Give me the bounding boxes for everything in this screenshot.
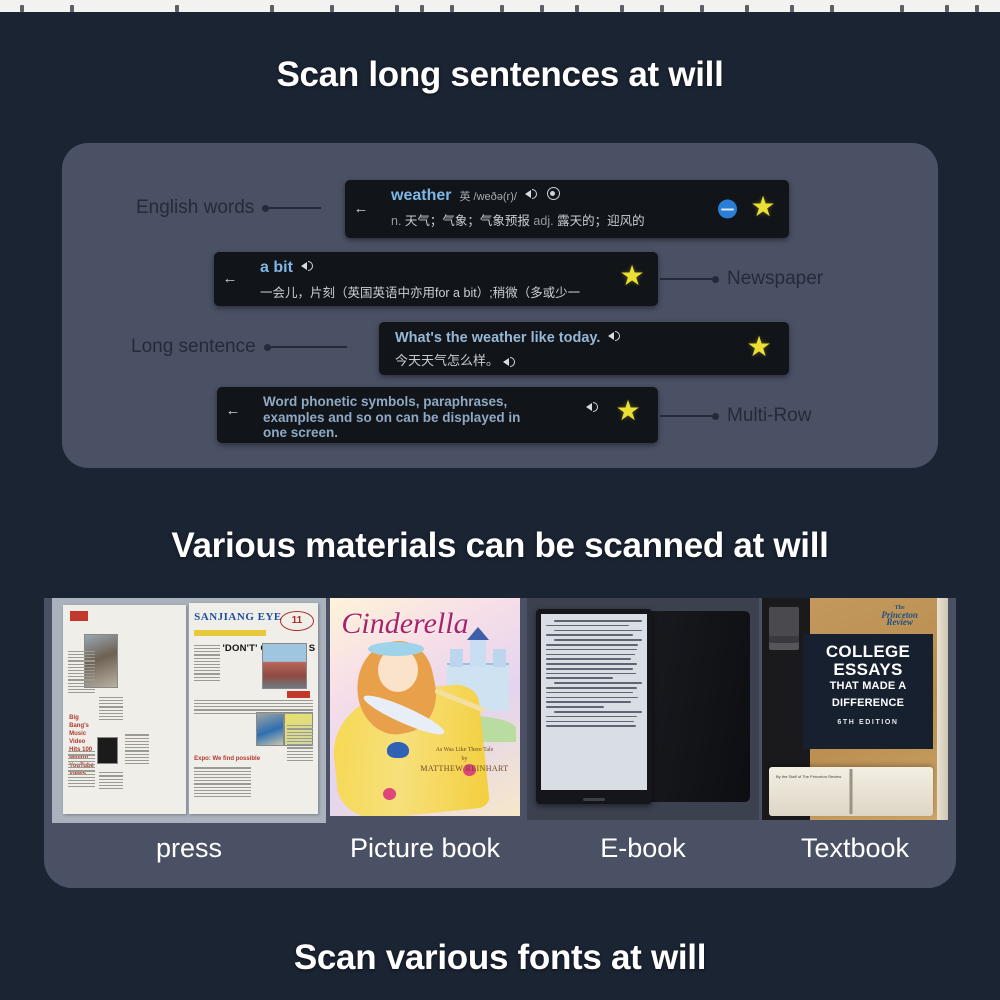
callout-dot xyxy=(262,205,269,212)
publisher-name-2: Review xyxy=(859,619,941,626)
page-title-scan-long-sentences: Scan long sentences at will xyxy=(0,55,1000,95)
callout-line xyxy=(271,346,347,349)
thumbnail-textbook[interactable]: The Princeton Review COLLEGE ESSAYS THAT… xyxy=(762,598,948,820)
callout-label: Long sentence xyxy=(131,336,256,358)
textbook-cover: COLLEGE ESSAYS THAT MADE A DIFFERENCE 6T… xyxy=(803,634,933,749)
phonetic-text: 英 /weðə(r)/ xyxy=(459,188,516,204)
textbook-title-line-3: THAT MADE A xyxy=(803,680,933,693)
ebook-folio-cover xyxy=(648,611,750,802)
book-author: MATTHEW REINHART xyxy=(420,764,508,773)
part-of-speech-adj: adj. xyxy=(533,214,553,228)
section-title-scan-various-fonts: Scan various fonts at will xyxy=(0,938,1000,978)
back-arrow-icon[interactable]: ← xyxy=(225,403,241,419)
callout-line xyxy=(660,278,712,281)
translate-icon[interactable] xyxy=(718,200,737,219)
callout-dot xyxy=(712,276,719,283)
book-byline: As Was Like There Tale by MATTHEW REINHA… xyxy=(420,746,508,773)
open-book-footer-text: By the Staff of The Princeton Review xyxy=(776,774,841,780)
strip-tick xyxy=(395,5,399,12)
newspaper-red-flag xyxy=(70,611,87,621)
strip-tick xyxy=(620,5,624,12)
open-book-illustration: By the Staff of The Princeton Review xyxy=(769,767,933,816)
strip-tick xyxy=(900,5,904,12)
section-title-various-materials: Various materials can be scanned at will xyxy=(0,526,1000,566)
callout-long-sentence: Long sentence xyxy=(131,336,347,358)
callout-dot xyxy=(264,344,271,351)
strip-tick xyxy=(700,5,704,12)
strip-tick xyxy=(790,5,794,12)
strip-tick xyxy=(70,5,74,12)
ebook-reader-device xyxy=(536,609,652,804)
callout-english-words: English words xyxy=(136,197,321,219)
textbook-edition: 6TH EDITION xyxy=(803,719,933,726)
sentence-chinese: 今天天气怎么样。 xyxy=(395,350,779,369)
newspaper-section-title: Expo: We find possible xyxy=(194,755,260,763)
star-icon[interactable]: ★ xyxy=(618,262,646,290)
castle-tower xyxy=(470,639,486,667)
byline-by: by xyxy=(420,755,508,764)
speaker-icon[interactable] xyxy=(525,187,539,200)
newspaper-red-bar xyxy=(287,691,310,697)
definition-noun: 天气；气象；气象预报 xyxy=(405,214,530,228)
newspaper-stamp: 11 xyxy=(280,611,314,631)
newspaper-photo xyxy=(262,643,307,690)
refresh-icon[interactable] xyxy=(547,187,560,200)
caption-ebook: E-book xyxy=(527,833,759,864)
callout-label: Multi-Row xyxy=(727,405,811,427)
thumbnail-press[interactable]: Big Bang's Music Video Hits 100 Million … xyxy=(52,598,326,823)
star-icon[interactable]: ★ xyxy=(614,397,642,425)
strip-tick xyxy=(660,5,664,12)
sentence-chinese-text: 今天天气怎么样。 xyxy=(395,353,499,368)
strip-tick xyxy=(20,5,24,12)
strip-tick xyxy=(450,5,454,12)
speaker-icon[interactable] xyxy=(503,355,517,368)
back-arrow-icon[interactable]: ← xyxy=(222,271,238,287)
dictionary-card-sentence[interactable]: What's the weather like today. 今天天气怎么样。 … xyxy=(379,322,789,375)
strip-tick xyxy=(830,5,834,12)
definition-text: 一会儿，片刻（英国英语中亦用for a bit）;稍微（多或少一 xyxy=(260,282,648,301)
newspaper-right-page: SANJIANG EYE 11 'DON'T' COME TO S Expo: … xyxy=(189,603,318,815)
strip-tick xyxy=(270,5,274,12)
strip-tick xyxy=(500,5,504,12)
textbook-title-line-1: COLLEGE xyxy=(803,643,933,661)
callout-dot xyxy=(712,413,719,420)
publisher-logo: The Princeton Review xyxy=(859,605,941,629)
ebook-screen xyxy=(541,614,647,790)
newspaper-highlight-bar xyxy=(194,630,266,636)
strip-tick xyxy=(330,5,334,12)
device-brand-mark xyxy=(583,798,605,801)
ruler-edge xyxy=(937,598,948,820)
dictionary-card-multirow[interactable]: ← Word phonetic symbols, paraphrases, ex… xyxy=(217,387,658,443)
multirow-line-3: one screen. xyxy=(263,425,648,441)
flower-crown xyxy=(368,642,424,656)
caption-press: press xyxy=(52,833,326,864)
speaker-icon[interactable] xyxy=(301,259,315,272)
speaker-icon[interactable] xyxy=(608,329,622,342)
glass-slipper xyxy=(387,742,409,758)
newspaper-left-page: Big Bang's Music Video Hits 100 Million … xyxy=(63,605,186,814)
callout-line xyxy=(269,207,321,210)
strip-tick xyxy=(945,5,949,12)
part-of-speech-noun: n. xyxy=(391,214,401,228)
cinderella-artwork: Cinderella As Was Like There Tale by MAT… xyxy=(330,598,520,816)
textbook-title-line-2: ESSAYS xyxy=(803,661,933,679)
strip-tick xyxy=(745,5,749,12)
strip-tick xyxy=(575,5,579,12)
textbook-artwork: The Princeton Review COLLEGE ESSAYS THAT… xyxy=(762,598,948,820)
newspaper-photo xyxy=(97,737,118,764)
ebook-artwork xyxy=(527,598,759,820)
star-icon[interactable]: ★ xyxy=(745,333,773,361)
newspaper-masthead: SANJIANG EYE xyxy=(194,611,282,623)
strip-tick xyxy=(420,5,424,12)
callout-multi-row: Multi-Row xyxy=(660,405,811,427)
strip-tick xyxy=(175,5,179,12)
textbook-title-line-4: DIFFERENCE xyxy=(803,697,933,710)
star-icon[interactable]: ★ xyxy=(749,193,777,221)
caption-textbook: Textbook xyxy=(762,833,948,864)
strip-tick xyxy=(975,5,979,12)
rose-icon xyxy=(383,788,396,800)
back-arrow-icon[interactable]: ← xyxy=(353,201,369,217)
headword: a bit xyxy=(260,259,293,277)
byline-prefix: As Was Like There Tale xyxy=(420,746,508,755)
stacked-books xyxy=(769,607,799,636)
callout-label: English words xyxy=(136,197,254,219)
speaker-icon[interactable] xyxy=(586,400,600,413)
thumbnail-ebook[interactable] xyxy=(527,598,759,820)
newspaper-photo xyxy=(256,712,284,746)
newspaper-artwork: Big Bang's Music Video Hits 100 Million … xyxy=(52,598,326,823)
caption-picture-book: Picture book xyxy=(330,833,520,864)
dictionary-card-weather[interactable]: ← weather 英 /weðə(r)/ n. 天气；气象；气象预报 adj.… xyxy=(345,180,789,238)
callout-line xyxy=(660,415,712,418)
top-cutoff-strip xyxy=(0,0,1000,12)
thumbnail-picture-book[interactable]: Cinderella As Was Like There Tale by MAT… xyxy=(330,598,520,816)
strip-tick xyxy=(540,5,544,12)
headword: weather xyxy=(391,187,451,205)
callout-newspaper: Newspaper xyxy=(660,268,823,290)
definition-adj: 露天的；迎风的 xyxy=(557,214,645,228)
promo-page: Scan long sentences at will ← weather 英 … xyxy=(0,0,1000,1000)
dictionary-card-a-bit[interactable]: ← a bit 一会儿，片刻（英国英语中亦用for a bit）;稍微（多或少一… xyxy=(214,252,658,306)
callout-label: Newspaper xyxy=(727,268,823,290)
sentence-english: What's the weather like today. xyxy=(395,330,600,346)
